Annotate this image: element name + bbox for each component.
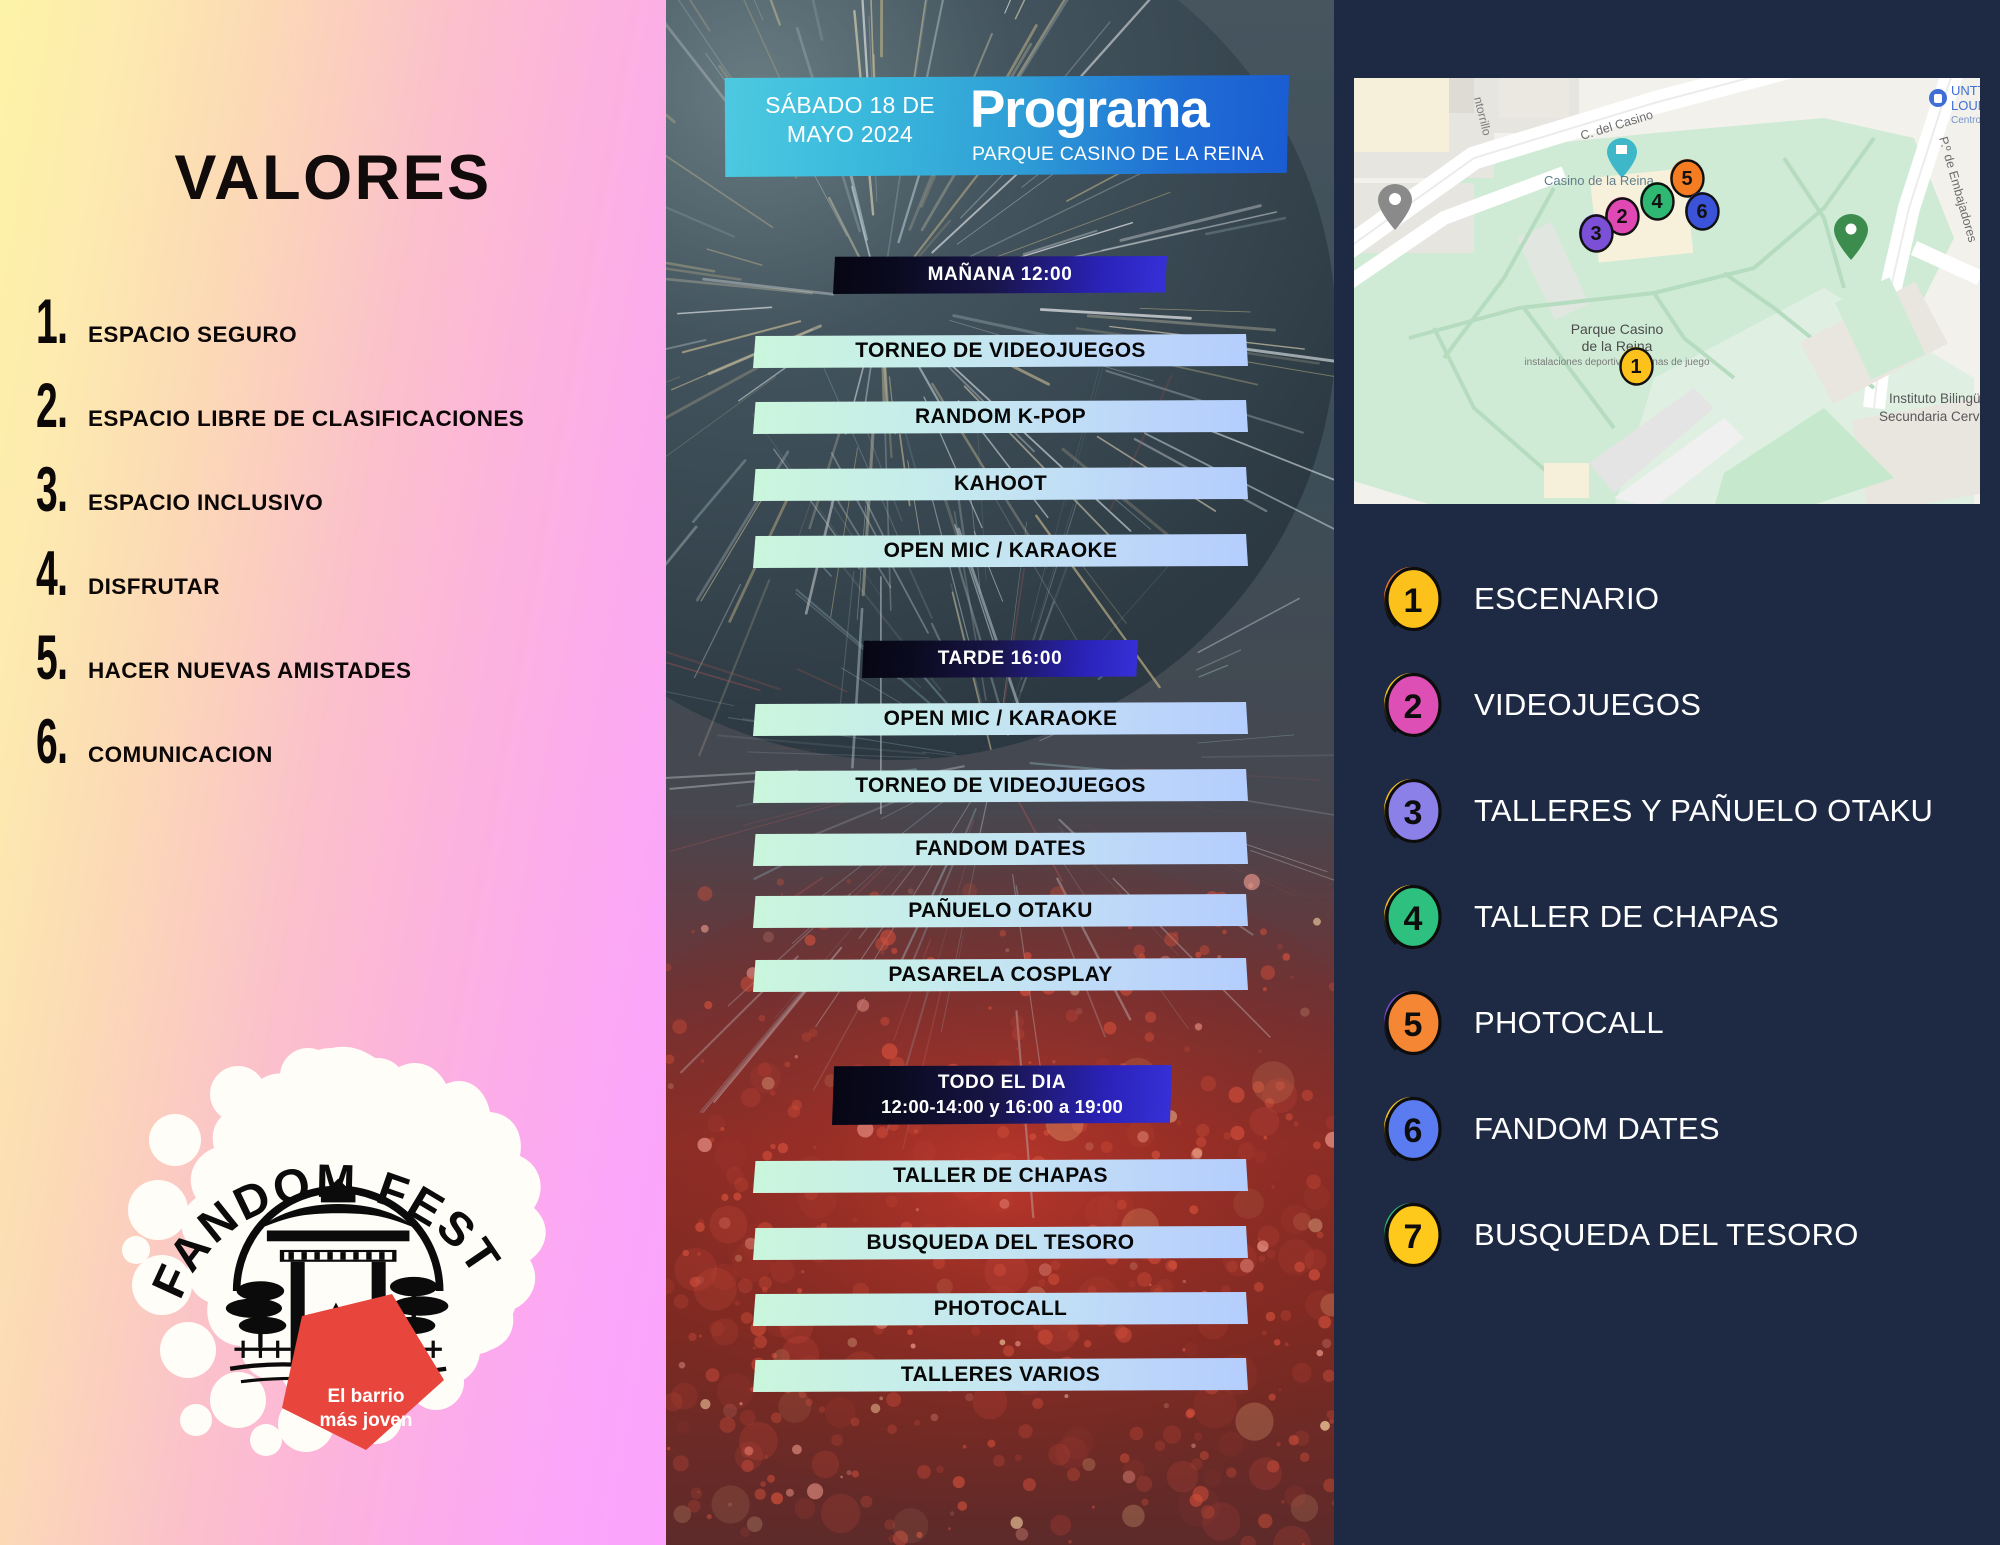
page-title: VALORES <box>0 142 666 214</box>
legend-item-4[interactable]: 4TALLER DE CHAPAS <box>1374 878 1994 956</box>
map-poi-unit-1: UNTT <box>1951 83 1980 98</box>
program-item: PHOTOCALL <box>753 1292 1248 1326</box>
legend-label: VIDEOJUEGOS <box>1474 685 1701 725</box>
section-header-label: TODO EL DIA 12:00-14:00 y 16:00 a 19:00 <box>881 1071 1123 1119</box>
event-date: SÁBADO 18 DE MAYO 2024 <box>745 91 955 149</box>
program-item: KAHOOT <box>753 467 1248 501</box>
program-item: TALLER DE CHAPAS <box>753 1159 1248 1193</box>
map-poi-instituto-1: Instituto Bilingüe de <box>1889 391 1980 406</box>
map-pin-3[interactable]: 3 <box>1579 214 1613 252</box>
value-label: ESPACIO SEGURO <box>88 322 297 348</box>
map-svg: C. del Casino P.º de Embajadores ntorril… <box>1354 78 1980 504</box>
map-legend: 1ESCENARIO2VIDEOJUEGOS3TALLERES Y PAÑUEL… <box>1374 560 1994 1302</box>
legend-item-1[interactable]: 1ESCENARIO <box>1374 560 1994 638</box>
legend-badge-2-icon: 2 <box>1374 666 1452 744</box>
legend-badge-3-icon: 3 <box>1374 772 1452 850</box>
value-number: 4. <box>36 538 67 610</box>
program-item-label: PAÑUELO OTAKU <box>908 899 1093 923</box>
map-pin-1[interactable]: 1 <box>1619 347 1653 385</box>
legend-label: TALLER DE CHAPAS <box>1474 897 1779 937</box>
map-poi-unit-3: Centro <box>1951 115 1980 126</box>
svg-text:2: 2 <box>1404 688 1423 726</box>
program-item-label: TORNEO DE VIDEOJUEGOS <box>855 339 1146 363</box>
program-item: BUSQUEDA DEL TESORO <box>753 1226 1248 1260</box>
program-item-label: TALLERES VARIOS <box>901 1363 1100 1387</box>
map-pin-6[interactable]: 6 <box>1685 192 1719 230</box>
map-legend-panel: C. del Casino P.º de Embajadores ntorril… <box>1334 0 2000 1545</box>
legend-badge-6-icon: 6 <box>1374 1090 1452 1168</box>
program-item: OPEN MIC / KARAOKE <box>753 534 1248 568</box>
program-item: PAÑUELO OTAKU <box>753 894 1248 928</box>
map-pin-5[interactable]: 5 <box>1670 159 1704 197</box>
map-pin-4[interactable]: 4 <box>1640 182 1674 220</box>
map-park-name-1: Parque Casino <box>1571 321 1664 337</box>
list-item: 6. COMUNICACION <box>0 720 666 804</box>
map-pin-number: 4 <box>1651 191 1663 213</box>
location-map[interactable]: C. del Casino P.º de Embajadores ntorril… <box>1354 78 1980 504</box>
section-header-afternoon: TARDE 16:00 <box>862 640 1138 678</box>
value-number: 1. <box>36 286 67 358</box>
legend-label: ESCENARIO <box>1474 579 1659 619</box>
program-item-label: OPEN MIC / KARAOKE <box>884 707 1118 731</box>
program-item-label: PHOTOCALL <box>934 1297 1067 1321</box>
list-item: 2. ESPACIO LIBRE DE CLASIFICACIONES <box>0 384 666 468</box>
program-item: PASARELA COSPLAY <box>753 958 1248 992</box>
map-pin-number: 1 <box>1630 356 1641 378</box>
value-label: ESPACIO LIBRE DE CLASIFICACIONES <box>88 406 524 432</box>
value-label: COMUNICACION <box>88 742 273 768</box>
section-header-allday: TODO EL DIA 12:00-14:00 y 16:00 a 19:00 <box>832 1065 1172 1125</box>
legend-label: TALLERES Y PAÑUELO OTAKU <box>1474 791 1933 831</box>
value-label: HACER NUEVAS AMISTADES <box>88 658 411 684</box>
value-number: 2. <box>36 370 67 442</box>
svg-text:3: 3 <box>1404 794 1423 832</box>
legend-label: FANDOM DATES <box>1474 1109 1720 1149</box>
program-item-label: KAHOOT <box>954 472 1047 496</box>
legend-item-7[interactable]: 7BUSQUEDA DEL TESORO <box>1374 1196 1994 1274</box>
values-panel: VALORES 1. ESPACIO SEGURO 2. ESPACIO LIB… <box>0 0 666 1545</box>
section-header-label: TARDE 16:00 <box>938 647 1063 671</box>
program-item-label: OPEN MIC / KARAOKE <box>884 539 1118 563</box>
program-title: Programa <box>970 79 1209 140</box>
program-header-banner: SÁBADO 18 DE MAYO 2024 Programa PARQUE C… <box>723 75 1289 177</box>
value-number: 6. <box>36 706 67 778</box>
map-pin-number: 5 <box>1681 168 1692 190</box>
map-pin-number: 3 <box>1590 223 1601 245</box>
value-label: ESPACIO INCLUSIVO <box>88 490 323 516</box>
program-item: TORNEO DE VIDEOJUEGOS <box>753 334 1248 368</box>
section-header-morning: MAÑANA 12:00 <box>833 256 1167 294</box>
map-poi-casino-label: Casino de la Reina <box>1544 173 1655 188</box>
legend-item-2[interactable]: 2VIDEOJUEGOS <box>1374 666 1994 744</box>
map-poi-instituto-2: Secundaria Cervantes <box>1879 409 1980 424</box>
tagline-line2: más joven <box>320 1410 413 1431</box>
poster-root: VALORES 1. ESPACIO SEGURO 2. ESPACIO LIB… <box>0 0 2000 1545</box>
values-list: 1. ESPACIO SEGURO 2. ESPACIO LIBRE DE CL… <box>0 300 666 804</box>
list-item: 4. DISFRUTAR <box>0 552 666 636</box>
legend-item-5[interactable]: 5PHOTOCALL <box>1374 984 1994 1062</box>
program-panel: SÁBADO 18 DE MAYO 2024 Programa PARQUE C… <box>666 0 1334 1545</box>
list-item: 5. HACER NUEVAS AMISTADES <box>0 636 666 720</box>
program-item-label: TALLER DE CHAPAS <box>893 1164 1108 1188</box>
program-item-label: FANDOM DATES <box>915 837 1086 861</box>
list-item: 1. ESPACIO SEGURO <box>0 300 666 384</box>
section-header-label: MAÑANA 12:00 <box>928 263 1073 287</box>
list-item: 3. ESPACIO INCLUSIVO <box>0 468 666 552</box>
map-pin-number: 2 <box>1616 206 1627 228</box>
svg-text:5: 5 <box>1404 1006 1423 1044</box>
tagline-line1: El barrio <box>327 1386 404 1407</box>
legend-label: PHOTOCALL <box>1474 1003 1664 1043</box>
program-item-label: RANDOM K-POP <box>915 405 1086 429</box>
program-item: FANDOM DATES <box>753 832 1248 866</box>
program-item: RANDOM K-POP <box>753 400 1248 434</box>
map-poi-unit-2: LOUN <box>1951 98 1980 113</box>
svg-text:7: 7 <box>1404 1218 1423 1256</box>
program-item: TALLERES VARIOS <box>753 1358 1248 1392</box>
legend-badge-7-icon: 7 <box>1374 1196 1452 1274</box>
svg-text:1: 1 <box>1404 582 1423 620</box>
value-number: 3. <box>36 454 67 526</box>
map-poi-blue-pin <box>1929 89 1947 107</box>
value-number: 5. <box>36 622 67 694</box>
map-park-sub: instalaciones deportivas y zonas de jueg… <box>1524 357 1710 368</box>
program-item-label: TORNEO DE VIDEOJUEGOS <box>855 774 1146 798</box>
legend-item-3[interactable]: 3TALLERES Y PAÑUELO OTAKU <box>1374 772 1994 850</box>
svg-text:6: 6 <box>1404 1112 1423 1150</box>
program-venue: PARQUE CASINO DE LA REINA <box>972 143 1264 166</box>
logo-svg: FANDOM FEST <box>70 1020 590 1490</box>
map-pin-number: 6 <box>1696 201 1707 223</box>
legend-badge-4-icon: 4 <box>1374 878 1452 956</box>
value-label: DISFRUTAR <box>88 574 220 600</box>
legend-badge-1-icon: 1 <box>1374 560 1452 638</box>
legend-label: BUSQUEDA DEL TESORO <box>1474 1215 1859 1255</box>
program-item: TORNEO DE VIDEOJUEGOS <box>753 769 1248 803</box>
legend-badge-5-icon: 5 <box>1374 984 1452 1062</box>
program-item: OPEN MIC / KARAOKE <box>753 702 1248 736</box>
program-item-label: PASARELA COSPLAY <box>888 963 1112 987</box>
fandom-fest-logo: FANDOM FEST <box>70 1020 590 1490</box>
program-item-label: BUSQUEDA DEL TESORO <box>866 1231 1134 1255</box>
svg-text:4: 4 <box>1404 900 1423 938</box>
legend-item-6[interactable]: 6FANDOM DATES <box>1374 1090 1994 1168</box>
